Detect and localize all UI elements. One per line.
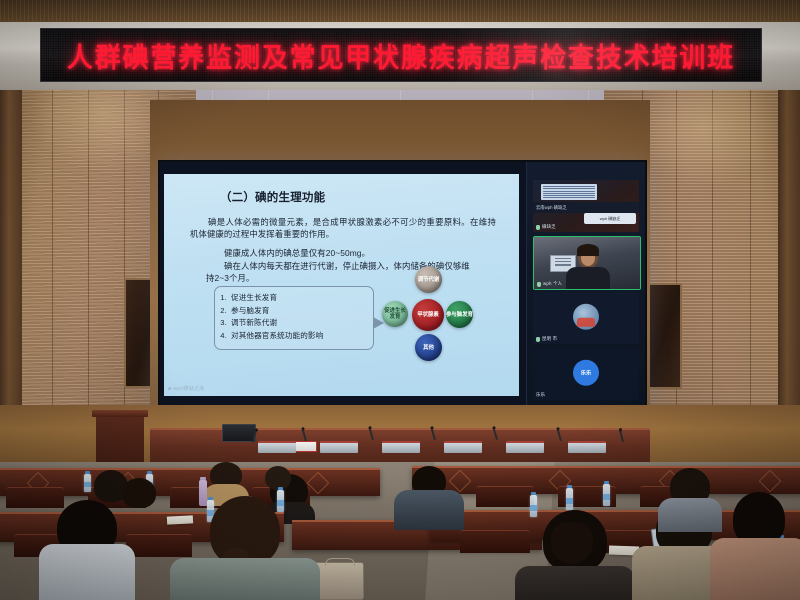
vc-participant-label: wph 个人 <box>537 281 562 287</box>
vc-participant-label: 碘缺乏 <box>536 224 556 230</box>
laptop[interactable] <box>222 424 256 442</box>
nameplate <box>568 441 606 453</box>
vc-participant-name: 昆明 市 <box>542 336 557 342</box>
nameplate <box>506 441 544 453</box>
slide-paragraph-2: 健康成人体内的碘总量仅有20~50mg。 <box>224 247 474 259</box>
list-item: 参与脑发育 <box>229 305 373 318</box>
nameplate <box>258 441 296 453</box>
vc-chat-bubble: wph 碘缺乏 <box>584 213 636 224</box>
led-banner: 人群碘营养监测及常见甲状腺疾病超声检查技术培训班 <box>40 28 762 82</box>
diagram-node-other: 其他 <box>415 334 442 361</box>
vc-tile-active-speaker[interactable]: wph 个人 <box>533 236 641 290</box>
audience-member <box>660 468 720 528</box>
wall-column-left <box>0 78 22 458</box>
slide-callout-box: 促进生长发育 参与脑发育 调节新陈代谢 对其他器官系统功能的影响 <box>214 286 374 350</box>
audience-member <box>180 496 310 600</box>
audience-member <box>520 510 630 600</box>
diagram-node-metabolism: 调节代谢 <box>415 266 442 293</box>
conference-room-scene: （二）碘的生理功能 碘是人体必需的微量元素，是合成甲状腺激素必不可少的重要原料。… <box>0 0 800 600</box>
vc-participant-name: wph 个人 <box>543 281 562 287</box>
handbag <box>314 562 364 600</box>
projection-screen[interactable]: （二）碘的生理功能 碘是人体必需的微量元素，是合成甲状腺激素必不可少的重要原料。… <box>158 160 647 419</box>
participant-avatar <box>573 304 599 330</box>
nameplate <box>382 441 420 453</box>
projection-surface: （二）碘的生理功能 碘是人体必需的微量元素，是合成甲状腺激素必不可少的重要原料。… <box>160 162 645 417</box>
slide-watermark: ■ wph碘缺乏库 <box>168 385 205 392</box>
thyroid-hormone-diagram: 调节代谢 促进生长发育 甲状腺素 参与脑发育 其他 <box>378 266 478 364</box>
slide-function-list: 促进生长发育 参与脑发育 调节新陈代谢 对其他器官系统功能的影响 <box>229 292 373 342</box>
water-bottle <box>566 488 573 510</box>
water-bottle <box>84 474 91 492</box>
name-card <box>293 441 317 452</box>
vc-participant-label: 乐乐 <box>536 392 545 398</box>
watermark-icon: ■ <box>168 386 171 392</box>
list-item: 调节新陈代谢 <box>229 317 373 330</box>
nameplate <box>320 441 358 453</box>
wall-column-right <box>778 78 800 458</box>
vc-chat-bar[interactable]: 云南wph 碘缺乏 <box>533 202 639 213</box>
audience-chair <box>476 486 534 507</box>
watermark-label: wph碘缺乏库 <box>173 385 204 392</box>
vc-tile-avatar-photo[interactable]: 昆明 市 <box>533 292 639 344</box>
chat-sender: 云南wph 碘缺乏 <box>536 205 567 211</box>
list-item: 促进生长发育 <box>229 292 373 305</box>
microphone-icon <box>537 282 541 287</box>
microphone-icon <box>536 225 540 230</box>
list-item: 对其他器官系统功能的影响 <box>229 330 373 343</box>
vc-tile-screenshare[interactable]: 云南wph 碘缺乏 wph 碘缺乏 碘缺乏 <box>533 180 639 232</box>
audience-member <box>112 478 166 528</box>
slide-paragraph-1: 碘是人体必需的微量元素，是合成甲状腺激素必不可少的重要原料。在维持机体健康的过程… <box>190 216 496 240</box>
water-bottle <box>603 484 610 506</box>
audience-member <box>396 466 462 524</box>
diagram-node-center: 甲状腺素 <box>412 299 444 331</box>
presentation-slide: （二）碘的生理功能 碘是人体必需的微量元素，是合成甲状腺激素必不可少的重要原料。… <box>164 174 519 396</box>
shared-document-thumbnail <box>541 184 597 200</box>
led-banner-text: 人群碘营养监测及常见甲状腺疾病超声检查技术培训班 <box>67 36 735 75</box>
vc-tile-avatar-initials[interactable]: 乐乐 乐乐 <box>533 348 639 400</box>
diagram-node-brain: 参与脑发育 <box>446 301 473 328</box>
vc-participant-label: 昆明 市 <box>536 336 557 342</box>
slide-title: （二）碘的生理功能 <box>220 189 325 205</box>
nameplate <box>444 441 482 453</box>
video-conference-panel[interactable]: 云南wph 碘缺乏 wph 碘缺乏 碘缺乏 wph 个人 <box>526 162 645 417</box>
banner-top-trim <box>0 0 800 22</box>
audience-member <box>714 492 800 600</box>
vc-participant-name: 碘缺乏 <box>542 224 556 230</box>
microphone-icon <box>536 337 540 342</box>
diagram-node-growth: 促进生长发育 <box>382 301 408 327</box>
participant-avatar: 乐乐 <box>573 360 599 386</box>
vc-participant-name: 乐乐 <box>536 392 545 398</box>
